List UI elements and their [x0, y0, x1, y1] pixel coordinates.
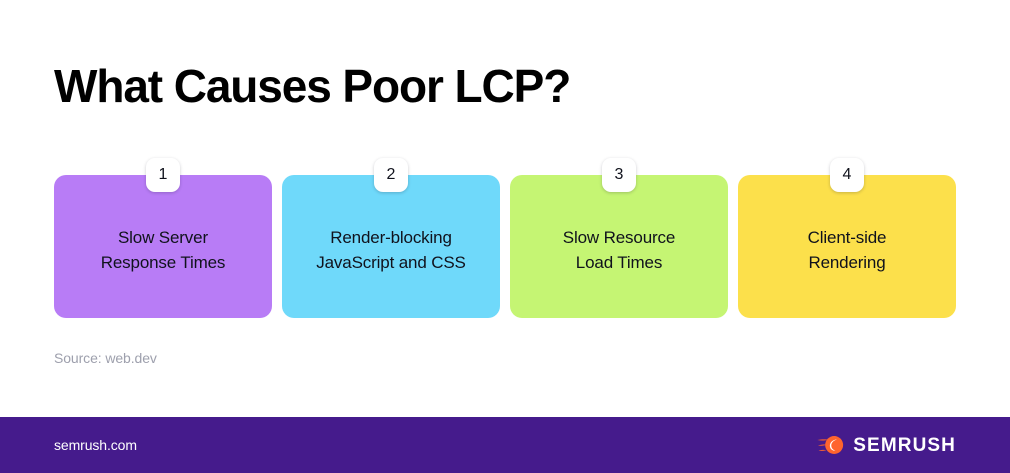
- cause-card-1: 1 Slow Server Response Times: [54, 158, 272, 318]
- cause-card-2: 2 Render-blocking JavaScript and CSS: [282, 158, 500, 318]
- source-note: Source: web.dev: [54, 348, 157, 368]
- semrush-comet-icon: [817, 435, 844, 455]
- card-body-3: Slow Resource Load Times: [510, 175, 728, 318]
- infographic-canvas: What Causes Poor LCP? 1 Slow Server Resp…: [0, 0, 1010, 473]
- cause-card-4: 4 Client-side Rendering: [738, 158, 956, 318]
- semrush-wordmark: SEMRUSH: [853, 436, 956, 455]
- page-title: What Causes Poor LCP?: [54, 58, 570, 114]
- semrush-logo: SEMRUSH: [817, 435, 956, 455]
- card-number-badge-1: 1: [146, 158, 180, 192]
- card-body-2: Render-blocking JavaScript and CSS: [282, 175, 500, 318]
- card-label-1: Slow Server Response Times: [101, 225, 226, 275]
- cause-card-3: 3 Slow Resource Load Times: [510, 158, 728, 318]
- card-body-1: Slow Server Response Times: [54, 175, 272, 318]
- card-label-4: Client-side Rendering: [808, 225, 887, 275]
- card-number-badge-4: 4: [830, 158, 864, 192]
- card-body-4: Client-side Rendering: [738, 175, 956, 318]
- card-number-badge-2: 2: [374, 158, 408, 192]
- footer-bar: semrush.com SEMRUSH: [0, 417, 1010, 473]
- card-label-2: Render-blocking JavaScript and CSS: [316, 225, 465, 275]
- card-label-3: Slow Resource Load Times: [563, 225, 675, 275]
- cause-cards-row: 1 Slow Server Response Times 2 Render-bl…: [54, 158, 956, 318]
- card-number-badge-3: 3: [602, 158, 636, 192]
- footer-website-url: semrush.com: [54, 435, 137, 455]
